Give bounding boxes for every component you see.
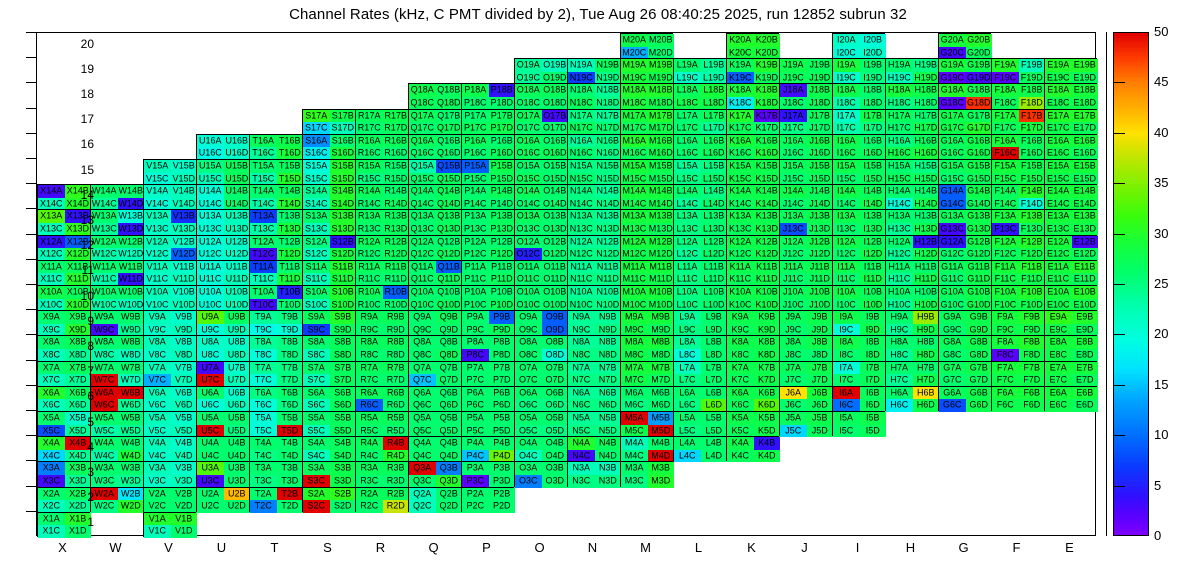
channel-f17a[interactable]: F17A <box>992 110 1019 123</box>
detector-tower-n7[interactable]: N7AN7BN7CN7D <box>567 361 620 386</box>
channel-v3a[interactable]: V3A <box>144 462 171 475</box>
channel-w13a[interactable]: W13A <box>91 210 118 223</box>
detector-tower-e13[interactable]: E13AE13BE13CE13D <box>1044 209 1097 234</box>
channel-f11a[interactable]: F11A <box>992 261 1019 274</box>
channel-u12a[interactable]: U12A <box>197 236 224 249</box>
channel-w2b[interactable]: W2B <box>118 488 145 501</box>
channel-v10a[interactable]: V10A <box>144 286 171 299</box>
detector-tower-m3[interactable]: M3AM3BM3CM3D <box>620 461 673 486</box>
channel-m3d[interactable]: M3D <box>648 475 675 488</box>
channel-o4a[interactable]: O4A <box>515 437 542 450</box>
detector-tower-l13[interactable]: L13AL13BL13CL13D <box>673 209 726 234</box>
channel-u8b[interactable]: U8B <box>224 336 251 349</box>
channel-m3b[interactable]: M3B <box>648 462 675 475</box>
detector-tower-o12[interactable]: O12AO12BO12CO12D <box>514 235 567 260</box>
channel-p7a[interactable]: P7A <box>462 362 489 375</box>
channel-k19a[interactable]: K19A <box>727 59 754 72</box>
channel-n17b[interactable]: N17B <box>595 110 622 123</box>
channel-i19b[interactable]: I19B <box>860 59 887 72</box>
detector-tower-q13[interactable]: Q13AQ13BQ13CQ13D <box>408 209 461 234</box>
channel-g19b[interactable]: G19B <box>966 59 993 72</box>
channel-k10a[interactable]: K10A <box>727 286 754 299</box>
detector-tower-v10[interactable]: V10AV10BV10CV10D <box>143 285 196 310</box>
detector-tower-v14[interactable]: V14AV14BV14CV14D <box>143 184 196 209</box>
detector-tower-j15[interactable]: J15AJ15BJ15CJ15D <box>779 159 832 184</box>
detector-tower-p13[interactable]: P13AP13BP13CP13D <box>461 209 514 234</box>
channel-p8b[interactable]: P8B <box>489 336 516 349</box>
channel-q10a[interactable]: Q10A <box>409 286 436 299</box>
channel-f6c[interactable]: F6C <box>992 399 1019 412</box>
channel-g15a[interactable]: G15A <box>939 160 966 173</box>
detector-tower-l15[interactable]: L15AL15BL15CL15D <box>673 159 726 184</box>
detector-tower-t12[interactable]: T12AT12BT12CT12D <box>249 235 302 260</box>
channel-r8a[interactable]: R8A <box>356 336 383 349</box>
detector-tower-j14[interactable]: J14AJ14BJ14CJ14D <box>779 184 832 209</box>
channel-j18b[interactable]: J18B <box>807 84 834 97</box>
channel-l4b[interactable]: L4B <box>701 437 728 450</box>
detector-tower-k14[interactable]: K14AK14BK14CK14D <box>726 184 779 209</box>
channel-j14b[interactable]: J14B <box>807 185 834 198</box>
detector-tower-h8[interactable]: H8AH8BH8CH8D <box>885 335 938 360</box>
channel-g20a[interactable]: G20A <box>939 34 966 47</box>
channel-h19a[interactable]: H19A <box>886 59 913 72</box>
detector-tower-n12[interactable]: N12AN12BN12CN12D <box>567 235 620 260</box>
channel-g13b[interactable]: G13B <box>966 210 993 223</box>
channel-m3a[interactable]: M3A <box>621 462 648 475</box>
channel-r14a[interactable]: R14A <box>356 185 383 198</box>
detector-tower-f10[interactable]: F10AF10BF10CF10D <box>991 285 1044 310</box>
detector-tower-g9[interactable]: G9AG9BG9CG9D <box>938 310 991 335</box>
channel-h8a[interactable]: H8A <box>886 336 913 349</box>
channel-k13a[interactable]: K13A <box>727 210 754 223</box>
channel-h9a[interactable]: H9A <box>886 311 913 324</box>
channel-g6d[interactable]: G6D <box>966 399 993 412</box>
detector-tower-i7[interactable]: I7AI7BI7CI7D <box>832 361 885 386</box>
detector-tower-p5[interactable]: P5AP5BP5CP5D <box>461 411 514 436</box>
channel-q5a[interactable]: Q5A <box>409 412 436 425</box>
channel-w11b[interactable]: W11B <box>118 261 145 274</box>
channel-p9a[interactable]: P9A <box>462 311 489 324</box>
channel-r9b[interactable]: R9B <box>383 311 410 324</box>
channel-g9b[interactable]: G9B <box>966 311 993 324</box>
channel-w4a[interactable]: W4A <box>91 437 118 450</box>
channel-i14a[interactable]: I14A <box>833 185 860 198</box>
detector-tower-t4[interactable]: T4AT4BT4CT4D <box>249 436 302 461</box>
channel-f12b[interactable]: F12B <box>1019 236 1046 249</box>
channel-g15b[interactable]: G15B <box>966 160 993 173</box>
detector-tower-k7[interactable]: K7AK7BK7CK7D <box>726 361 779 386</box>
detector-tower-m14[interactable]: M14AM14BM14CM14D <box>620 184 673 209</box>
detector-tower-o14[interactable]: O14AO14BO14CO14D <box>514 184 567 209</box>
channel-u4b[interactable]: U4B <box>224 437 251 450</box>
channel-q15a[interactable]: Q15A <box>409 160 436 173</box>
detector-tower-j5[interactable]: J5AJ5BJ5CJ5D <box>779 411 832 436</box>
detector-tower-r12[interactable]: R12AR12BR12CR12D <box>355 235 408 260</box>
channel-t2d[interactable]: T2D <box>277 500 304 513</box>
channel-p17a[interactable]: P17A <box>462 110 489 123</box>
detector-tower-t7[interactable]: T7AT7BT7CT7D <box>249 361 302 386</box>
channel-m7a[interactable]: M7A <box>621 362 648 375</box>
channel-u13a[interactable]: U13A <box>197 210 224 223</box>
detector-tower-u3[interactable]: U3AU3BU3CU3D <box>196 461 249 486</box>
channel-q2d[interactable]: Q2D <box>436 500 463 513</box>
detector-tower-l6[interactable]: L6AL6BL6CL6D <box>673 386 726 411</box>
channel-p5a[interactable]: P5A <box>462 412 489 425</box>
channel-n15a[interactable]: N15A <box>568 160 595 173</box>
detector-tower-i5[interactable]: I5AI5BI5CI5D <box>832 411 885 436</box>
channel-r15a[interactable]: R15A <box>356 160 383 173</box>
channel-n13a[interactable]: N13A <box>568 210 595 223</box>
channel-t2b[interactable]: T2B <box>277 488 304 501</box>
channel-g19a[interactable]: G19A <box>939 59 966 72</box>
detector-tower-p3[interactable]: P3AP3BP3CP3D <box>461 461 514 486</box>
channel-v1b[interactable]: V1B <box>171 513 198 526</box>
detector-tower-o6[interactable]: O6AO6BO6CO6D <box>514 386 567 411</box>
detector-tower-k11[interactable]: K11AK11BK11CK11D <box>726 260 779 285</box>
detector-tower-v11[interactable]: V11AV11BV11CV11D <box>143 260 196 285</box>
detector-tower-s8[interactable]: S8AS8BS8CS8D <box>302 335 355 360</box>
channel-f19b[interactable]: F19B <box>1019 59 1046 72</box>
detector-tower-k15[interactable]: K15AK15BK15CK15D <box>726 159 779 184</box>
channel-j19a[interactable]: J19A <box>780 59 807 72</box>
detector-tower-m11[interactable]: M11AM11BM11CM11D <box>620 260 673 285</box>
channel-q12b[interactable]: Q12B <box>436 236 463 249</box>
detector-tower-e8[interactable]: E8AE8BE8CE8D <box>1044 335 1097 360</box>
detector-tower-r13[interactable]: R13AR13BR13CR13D <box>355 209 408 234</box>
detector-tower-k18[interactable]: K18AK18BK18CK18D <box>726 83 779 108</box>
channel-k20a[interactable]: K20A <box>727 34 754 47</box>
channel-n17a[interactable]: N17A <box>568 110 595 123</box>
detector-tower-v8[interactable]: V8AV8BV8CV8D <box>143 335 196 360</box>
channel-k17a[interactable]: K17A <box>727 110 754 123</box>
channel-p2c[interactable]: P2C <box>462 500 489 513</box>
channel-i12b[interactable]: I12B <box>860 236 887 249</box>
channel-h7b[interactable]: H7B <box>913 362 940 375</box>
channel-p10a[interactable]: P10A <box>462 286 489 299</box>
channel-s16b[interactable]: S16B <box>330 135 357 148</box>
channel-u10b[interactable]: U10B <box>224 286 251 299</box>
channel-e11a[interactable]: E11A <box>1045 261 1072 274</box>
channel-q14b[interactable]: Q14B <box>436 185 463 198</box>
detector-tower-n13[interactable]: N13AN13BN13CN13D <box>567 209 620 234</box>
detector-tower-i12[interactable]: I12AI12BI12CI12D <box>832 235 885 260</box>
channel-t10b[interactable]: T10B <box>277 286 304 299</box>
detector-tower-l8[interactable]: L8AL8BL8CL8D <box>673 335 726 360</box>
channel-j13b[interactable]: J13B <box>807 210 834 223</box>
channel-f6d[interactable]: F6D <box>1019 399 1046 412</box>
channel-j7b[interactable]: J7B <box>807 362 834 375</box>
channel-t9b[interactable]: T9B <box>277 311 304 324</box>
detector-tower-h11[interactable]: H11AH11BH11CH11D <box>885 260 938 285</box>
detector-tower-i11[interactable]: I11AI11BI11CI11D <box>832 260 885 285</box>
channel-w10b[interactable]: W10B <box>118 286 145 299</box>
channel-e7a[interactable]: E7A <box>1045 362 1072 375</box>
channel-w5a[interactable]: W5A <box>91 412 118 425</box>
channel-j12b[interactable]: J12B <box>807 236 834 249</box>
channel-k18a[interactable]: K18A <box>727 84 754 97</box>
detector-tower-m8[interactable]: M8AM8BM8CM8D <box>620 335 673 360</box>
channel-o12b[interactable]: O12B <box>542 236 569 249</box>
channel-p2d[interactable]: P2D <box>489 500 516 513</box>
detector-tower-t11[interactable]: T11AT11BT11CT11D <box>249 260 302 285</box>
channel-i18b[interactable]: I18B <box>860 84 887 97</box>
channel-u2c[interactable]: U2C <box>197 500 224 513</box>
channel-m12b[interactable]: M12B <box>648 236 675 249</box>
detector-tower-e16[interactable]: E16AE16BE16CE16D <box>1044 134 1097 159</box>
channel-s17b[interactable]: S17B <box>330 110 357 123</box>
channel-g20b[interactable]: G20B <box>966 34 993 47</box>
detector-tower-p11[interactable]: P11AP11BP11CP11D <box>461 260 514 285</box>
channel-n12a[interactable]: N12A <box>568 236 595 249</box>
detector-tower-s16[interactable]: S16AS16BS16CS16D <box>302 134 355 159</box>
channel-u6b[interactable]: U6B <box>224 387 251 400</box>
detector-tower-i9[interactable]: I9AI9BI9CI9D <box>832 310 885 335</box>
detector-tower-r6[interactable]: R6AR6BR6CR6D <box>355 386 408 411</box>
channel-l5a[interactable]: L5A <box>674 412 701 425</box>
channel-s2a[interactable]: S2A <box>303 488 330 501</box>
channel-m15a[interactable]: M15A <box>621 160 648 173</box>
channel-n15b[interactable]: N15B <box>595 160 622 173</box>
channel-l12b[interactable]: L12B <box>701 236 728 249</box>
channel-h18b[interactable]: H18B <box>913 84 940 97</box>
detector-tower-l16[interactable]: L16AL16BL16CL16D <box>673 134 726 159</box>
detector-tower-p14[interactable]: P14AP14BP14CP14D <box>461 184 514 209</box>
detector-tower-u15[interactable]: U15AU15BU15CU15D <box>196 159 249 184</box>
channel-h10a[interactable]: H10A <box>886 286 913 299</box>
channel-s11a[interactable]: S11A <box>303 261 330 274</box>
channel-p16a[interactable]: P16A <box>462 135 489 148</box>
detector-tower-o11[interactable]: O11AO11BO11CO11D <box>514 260 567 285</box>
channel-v4b[interactable]: V4B <box>171 437 198 450</box>
channel-i16a[interactable]: I16A <box>833 135 860 148</box>
detector-tower-r14[interactable]: R14AR14BR14CR14D <box>355 184 408 209</box>
detector-tower-w6[interactable]: W6AW6BW6CW6D <box>90 386 143 411</box>
channel-u2d[interactable]: U2D <box>224 500 251 513</box>
channel-w6a[interactable]: W6A <box>91 387 118 400</box>
channel-r16b[interactable]: R16B <box>383 135 410 148</box>
channel-p3a[interactable]: P3A <box>462 462 489 475</box>
detector-tower-e11[interactable]: E11AE11BE11CE11D <box>1044 260 1097 285</box>
channel-x13a[interactable]: X13A <box>38 210 65 223</box>
detector-tower-k12[interactable]: K12AK12BK12CK12D <box>726 235 779 260</box>
channel-p18a[interactable]: P18A <box>462 84 489 97</box>
channel-i9a[interactable]: I9A <box>833 311 860 324</box>
detector-tower-w3[interactable]: W3AW3BW3CW3D <box>90 461 143 486</box>
detector-tower-w9[interactable]: W9AW9BW9CW9D <box>90 310 143 335</box>
channel-w9b[interactable]: W9B <box>118 311 145 324</box>
channel-g8a[interactable]: G8A <box>939 336 966 349</box>
channel-k8b[interactable]: K8B <box>754 336 781 349</box>
channel-i20a[interactable]: I20A <box>833 34 860 47</box>
channel-e14b[interactable]: E14B <box>1072 185 1099 198</box>
detector-tower-t15[interactable]: T15AT15BT15CT15D <box>249 159 302 184</box>
detector-tower-h9[interactable]: H9AH9BH9CH9D <box>885 310 938 335</box>
channel-g12a[interactable]: G12A <box>939 236 966 249</box>
channel-j10b[interactable]: J10B <box>807 286 834 299</box>
channel-w7a[interactable]: W7A <box>91 362 118 375</box>
channel-r4a[interactable]: R4A <box>356 437 383 450</box>
channel-q11b[interactable]: Q11B <box>436 261 463 274</box>
channel-s9a[interactable]: S9A <box>303 311 330 324</box>
channel-v15a[interactable]: V15A <box>144 160 171 173</box>
channel-s8a[interactable]: S8A <box>303 336 330 349</box>
channel-g12b[interactable]: G12B <box>966 236 993 249</box>
detector-tower-v15[interactable]: V15AV15BV15CV15D <box>143 159 196 184</box>
channel-x2a[interactable]: X2A <box>38 488 65 501</box>
channel-l12a[interactable]: L12A <box>674 236 701 249</box>
channel-h14b[interactable]: H14B <box>913 185 940 198</box>
channel-s6a[interactable]: S6A <box>303 387 330 400</box>
channel-t8b[interactable]: T8B <box>277 336 304 349</box>
channel-r14b[interactable]: R14B <box>383 185 410 198</box>
channel-v10b[interactable]: V10B <box>171 286 198 299</box>
channel-k9b[interactable]: K9B <box>754 311 781 324</box>
detector-tower-g13[interactable]: G13AG13BG13CG13D <box>938 209 991 234</box>
detector-tower-g6[interactable]: G6AG6BG6CG6D <box>938 386 991 411</box>
detector-tower-i17[interactable]: I17AI17BI17CI17D <box>832 109 885 134</box>
channel-f14b[interactable]: F14B <box>1019 185 1046 198</box>
channel-i6a[interactable]: I6A <box>833 387 860 400</box>
channel-f6b[interactable]: F6B <box>1019 387 1046 400</box>
detector-tower-m19[interactable]: M19AM19BM19CM19D <box>620 58 673 83</box>
detector-tower-l18[interactable]: L18AL18BL18CL18D <box>673 83 726 108</box>
channel-t15a[interactable]: T15A <box>250 160 277 173</box>
channel-k12a[interactable]: K12A <box>727 236 754 249</box>
channel-o16a[interactable]: O16A <box>515 135 542 148</box>
channel-e8b[interactable]: E8B <box>1072 336 1099 349</box>
channel-g11a[interactable]: G11A <box>939 261 966 274</box>
channel-v11b[interactable]: V11B <box>171 261 198 274</box>
detector-tower-r15[interactable]: R15AR15BR15CR15D <box>355 159 408 184</box>
detector-tower-u16[interactable]: U16AU16BU16CU16D <box>196 134 249 159</box>
channel-n13b[interactable]: N13B <box>595 210 622 223</box>
channel-r11b[interactable]: R11B <box>383 261 410 274</box>
channel-r12a[interactable]: R12A <box>356 236 383 249</box>
channel-r15b[interactable]: R15B <box>383 160 410 173</box>
channel-e8a[interactable]: E8A <box>1045 336 1072 349</box>
channel-v7b[interactable]: V7B <box>171 362 198 375</box>
channel-j7a[interactable]: J7A <box>780 362 807 375</box>
detector-tower-i6[interactable]: I6AI6BI6CI6D <box>832 386 885 411</box>
detector-tower-s14[interactable]: S14AS14BS14CS14D <box>302 184 355 209</box>
channel-s2b[interactable]: S2B <box>330 488 357 501</box>
channel-j13a[interactable]: J13A <box>780 210 807 223</box>
detector-tower-e6[interactable]: E6AE6BE6CE6D <box>1044 386 1097 411</box>
channel-u14a[interactable]: U14A <box>197 185 224 198</box>
channel-h7a[interactable]: H7A <box>886 362 913 375</box>
channel-f18b[interactable]: F18B <box>1019 84 1046 97</box>
detector-tower-g20[interactable]: G20AG20BG20CG20D <box>938 33 991 58</box>
channel-j8a[interactable]: J8A <box>780 336 807 349</box>
channel-j15a[interactable]: J15A <box>780 160 807 173</box>
channel-w13b[interactable]: W13B <box>118 210 145 223</box>
channel-x9a[interactable]: X9A <box>38 311 65 324</box>
channel-e13b[interactable]: E13B <box>1072 210 1099 223</box>
channel-k14a[interactable]: K14A <box>727 185 754 198</box>
channel-u15a[interactable]: U15A <box>197 160 224 173</box>
channel-w4b[interactable]: W4B <box>118 437 145 450</box>
channel-l11b[interactable]: L11B <box>701 261 728 274</box>
channel-u10a[interactable]: U10A <box>197 286 224 299</box>
channel-q6b[interactable]: Q6B <box>436 387 463 400</box>
channel-n5a[interactable]: N5A <box>568 412 595 425</box>
channel-r3b[interactable]: R3B <box>383 462 410 475</box>
channel-g7a[interactable]: G7A <box>939 362 966 375</box>
channel-g18b[interactable]: G18B <box>966 84 993 97</box>
detector-tower-f9[interactable]: F9AF9BF9CF9D <box>991 310 1044 335</box>
channel-t5a[interactable]: T5A <box>250 412 277 425</box>
detector-tower-s11[interactable]: S11AS11BS11CS11D <box>302 260 355 285</box>
channel-w2a[interactable]: W2A <box>91 488 118 501</box>
detector-tower-w4[interactable]: W4AW4BW4CW4D <box>90 436 143 461</box>
detector-tower-n15[interactable]: N15AN15BN15CN15D <box>567 159 620 184</box>
channel-m10b[interactable]: M10B <box>648 286 675 299</box>
detector-tower-k16[interactable]: K16AK16BK16CK16D <box>726 134 779 159</box>
detector-tower-q3[interactable]: Q3AQ3BQ3CQ3D <box>408 461 461 486</box>
channel-o3a[interactable]: O3A <box>515 462 542 475</box>
detector-tower-w2[interactable]: W2AW2BW2CW2D <box>90 487 143 512</box>
channel-m14a[interactable]: M14A <box>621 185 648 198</box>
detector-tower-r2[interactable]: R2AR2BR2CR2D <box>355 487 408 512</box>
channel-e7b[interactable]: E7B <box>1072 362 1099 375</box>
detector-tower-s10[interactable]: S10AS10BS10CS10D <box>302 285 355 310</box>
channel-r3a[interactable]: R3A <box>356 462 383 475</box>
channel-l4c[interactable]: L4C <box>674 450 701 463</box>
detector-tower-t8[interactable]: T8AT8BT8CT8D <box>249 335 302 360</box>
detector-tower-q2[interactable]: Q2AQ2BQ2CQ2D <box>408 487 461 512</box>
channel-e9a[interactable]: E9A <box>1045 311 1072 324</box>
channel-g9a[interactable]: G9A <box>939 311 966 324</box>
channel-o8a[interactable]: O8A <box>515 336 542 349</box>
channel-x1c[interactable]: X1C <box>38 525 65 538</box>
detector-tower-r16[interactable]: R16AR16BR16CR16D <box>355 134 408 159</box>
channel-h6d[interactable]: H6D <box>913 399 940 412</box>
channel-n6b[interactable]: N6B <box>595 387 622 400</box>
channel-f7b[interactable]: F7B <box>1019 362 1046 375</box>
channel-x11a[interactable]: X11A <box>38 261 65 274</box>
channel-p13b[interactable]: P13B <box>489 210 516 223</box>
detector-tower-e7[interactable]: E7AE7BE7CE7D <box>1044 361 1097 386</box>
detector-tower-o16[interactable]: O16AO16BO16CO16D <box>514 134 567 159</box>
channel-x8a[interactable]: X8A <box>38 336 65 349</box>
channel-m20b[interactable]: M20B <box>648 34 675 47</box>
channel-i8b[interactable]: I8B <box>860 336 887 349</box>
channel-p15b[interactable]: P15B <box>489 160 516 173</box>
detector-tower-m12[interactable]: M12AM12BM12CM12D <box>620 235 673 260</box>
channel-t7a[interactable]: T7A <box>250 362 277 375</box>
channel-m8b[interactable]: M8B <box>648 336 675 349</box>
channel-e15a[interactable]: E15A <box>1045 160 1072 173</box>
channel-v5b[interactable]: V5B <box>171 412 198 425</box>
detector-tower-p2[interactable]: P2AP2BP2CP2D <box>461 487 514 512</box>
detector-tower-v6[interactable]: V6AV6BV6CV6D <box>143 386 196 411</box>
detector-tower-n4[interactable]: N4AN4BN4CN4D <box>567 436 620 461</box>
channel-i5d[interactable]: I5D <box>860 425 887 438</box>
channel-n3d[interactable]: N3D <box>595 475 622 488</box>
channel-q8a[interactable]: Q8A <box>409 336 436 349</box>
channel-t3a[interactable]: T3A <box>250 462 277 475</box>
detector-tower-i18[interactable]: I18AI18BI18CI18D <box>832 83 885 108</box>
detector-tower-n14[interactable]: N14AN14BN14CN14D <box>567 184 620 209</box>
channel-g6b[interactable]: G6B <box>966 387 993 400</box>
detector-tower-u6[interactable]: U6AU6BU6CU6D <box>196 386 249 411</box>
detector-tower-g12[interactable]: G12AG12BG12CG12D <box>938 235 991 260</box>
channel-k16a[interactable]: K16A <box>727 135 754 148</box>
channel-k20b[interactable]: K20B <box>754 34 781 47</box>
detector-tower-g18[interactable]: G18AG18BG18CG18D <box>938 83 991 108</box>
channel-t12b[interactable]: T12B <box>277 236 304 249</box>
detector-tower-j19[interactable]: J19AJ19BJ19CJ19D <box>779 58 832 83</box>
